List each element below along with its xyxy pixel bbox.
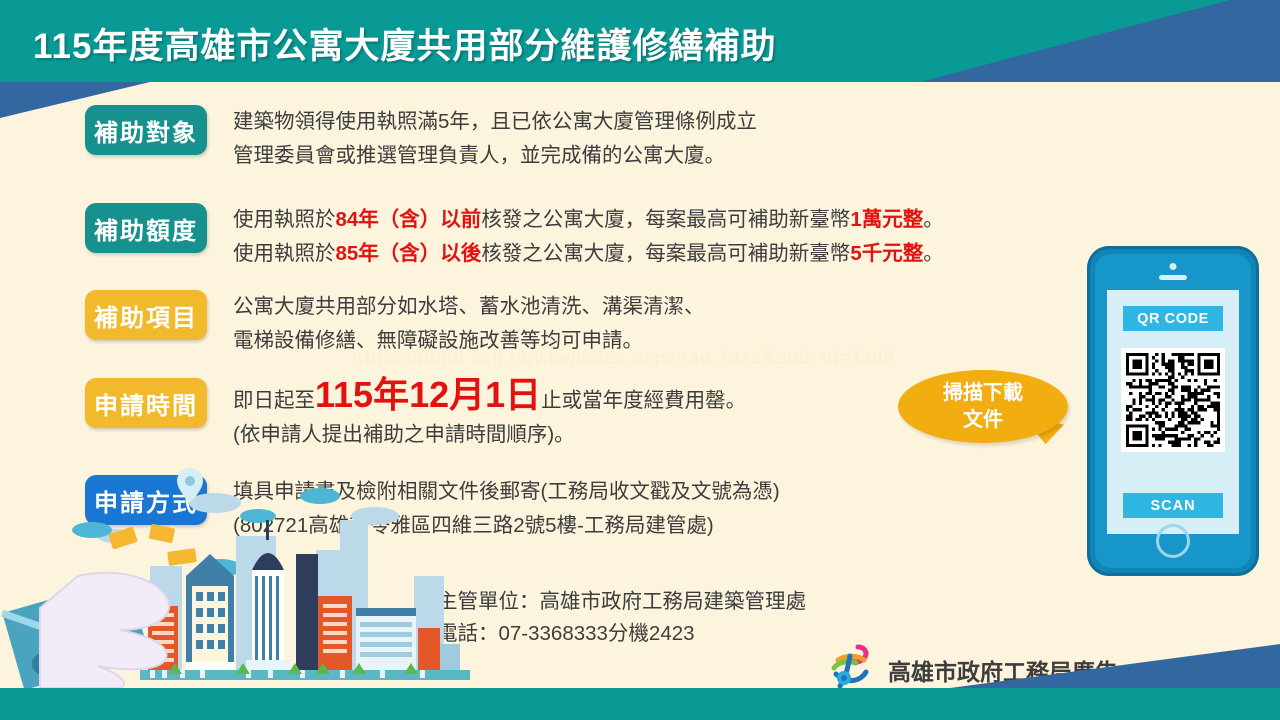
row-body-text: 使用執照於84年（含）以前核發之公寓大廈，每案最高可補助新臺幣1萬元整。使用執照… — [233, 203, 944, 271]
header-blue-wedge — [920, 0, 1280, 82]
contact-block: 主管單位：高雄市政府工務局建築管理處 電話：07-3368333分機2423 — [437, 586, 806, 650]
row-text-line: 管理委員會或推選管理負責人，並完成備的公寓大廈。 — [233, 139, 757, 173]
phone-mockup: QR CODE SCAN — [1087, 246, 1259, 576]
qr-code-image[interactable] — [1121, 348, 1225, 452]
row-text-line: 公寓大廈共用部分如水塔、蓄水池清洗、溝渠清潔、 — [233, 290, 705, 324]
row-body-text: 即日起至115年12月1日止或當年度經費用罄。(依申請人提出補助之申請時間順序)… — [233, 378, 746, 452]
phone-speaker-icon — [1159, 275, 1187, 280]
highlight-segment: 5千元整 — [850, 242, 923, 265]
content-row: 補助對象建築物領得使用執照滿5年，且已依公寓大廈管理條例成立管理委員會或推選管理… — [85, 105, 757, 173]
page-title: 115年度高雄市公寓大廈共用部分維護修繕補助 — [33, 18, 776, 69]
highlight-segment: 85年（含）以後 — [336, 242, 482, 265]
poster-canvas: 115年度高雄市公寓大廈共用部分維護修繕補助 補助對象建築物領得使用執照滿5年，… — [0, 0, 1280, 720]
content-row: 補助額度使用執照於84年（含）以前核發之公寓大廈，每案最高可補助新臺幣1萬元整。… — [85, 203, 944, 271]
text-segment: 核發之公寓大廈，每案最高可補助新臺幣 — [481, 242, 850, 265]
text-segment: 使用執照於 — [233, 208, 336, 231]
highlight-segment: 84年（含）以前 — [336, 208, 482, 231]
row-badge: 補助項目 — [85, 290, 207, 340]
qr-code-label: QR CODE — [1123, 306, 1223, 331]
phone-screen: QR CODE SCAN — [1107, 290, 1239, 534]
text-segment: (依申請人提出補助之申請時間順序)。 — [233, 423, 575, 446]
row-badge: 補助對象 — [85, 105, 207, 155]
row-body-text: 建築物領得使用執照滿5年，且已依公寓大廈管理條例成立管理委員會或推選管理負責人，… — [233, 105, 757, 173]
contact-authority: 主管單位：高雄市政府工務局建築管理處 — [437, 586, 806, 618]
contact-phone: 電話：07-3368333分機2423 — [437, 618, 806, 650]
scan-download-callout: 掃描下載 文件 — [898, 370, 1068, 443]
text-segment: 即日起至 — [233, 389, 315, 412]
phone-body: QR CODE SCAN — [1095, 254, 1251, 568]
text-segment: 管理委員會或推選管理負責人，並完成備的公寓大廈。 — [233, 144, 725, 167]
row-text-line: 使用執照於85年（含）以後核發之公寓大廈，每案最高可補助新臺幣5千元整。 — [233, 237, 944, 271]
scan-button[interactable]: SCAN — [1123, 493, 1223, 518]
text-segment: 止或當年度經費用罄。 — [541, 389, 746, 412]
callout-line-1: 掃描下載 — [943, 380, 1023, 407]
watermark-url: https://build.kcg.gov.tw/index.aspx?au_i… — [352, 348, 894, 370]
row-text-line: 即日起至115年12月1日止或當年度經費用罄。 — [233, 378, 746, 418]
poster-header: 115年度高雄市公寓大廈共用部分維護修繕補助 — [0, 0, 1280, 82]
row-text-line: 使用執照於84年（含）以前核發之公寓大廈，每案最高可補助新臺幣1萬元整。 — [233, 203, 944, 237]
row-text-line: 建築物領得使用執照滿5年，且已依公寓大廈管理條例成立 — [233, 105, 757, 139]
city-illustration — [0, 458, 470, 688]
footer-teal-bar — [0, 688, 1280, 720]
highlight-segment: 115年12月1日 — [315, 374, 541, 415]
highlight-segment: 1萬元整 — [850, 208, 923, 231]
phone-camera-icon — [1170, 263, 1177, 270]
content-row: 申請時間即日起至115年12月1日止或當年度經費用罄。(依申請人提出補助之申請時… — [85, 378, 746, 452]
text-segment: 。 — [923, 242, 944, 265]
callout-line-2: 文件 — [963, 407, 1003, 434]
row-text-line: (依申請人提出補助之申請時間順序)。 — [233, 418, 746, 452]
row-badge: 申請時間 — [85, 378, 207, 428]
text-segment: 建築物領得使用執照滿5年，且已依公寓大廈管理條例成立 — [233, 110, 757, 133]
text-segment: 公寓大廈共用部分如水塔、蓄水池清洗、溝渠清潔、 — [233, 295, 705, 318]
text-segment: 使用執照於 — [233, 242, 336, 265]
text-segment: 核發之公寓大廈，每案最高可補助新臺幣 — [481, 208, 850, 231]
text-segment: 。 — [923, 208, 944, 231]
phone-home-button-icon — [1156, 524, 1190, 558]
row-badge: 補助額度 — [85, 203, 207, 253]
